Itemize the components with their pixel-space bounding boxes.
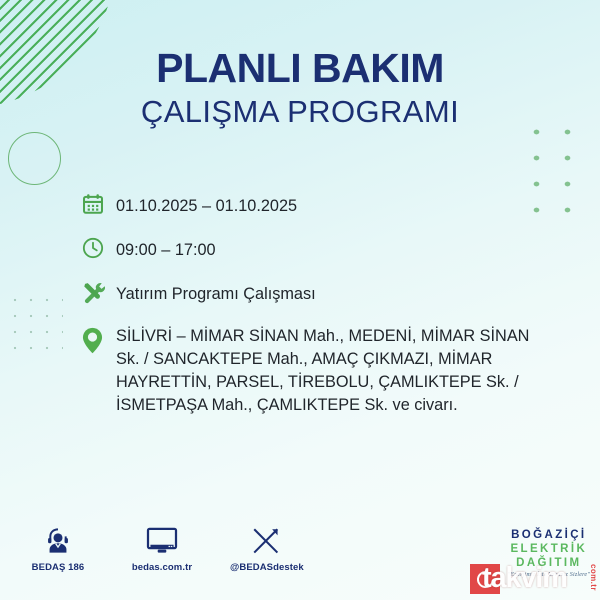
location-pin-icon <box>82 324 116 357</box>
time-range-text: 09:00 – 17:00 <box>116 236 216 262</box>
poster-header: PLANLI BAKIM ÇALIŞMA PROGRAMI <box>0 48 600 128</box>
poster-footer: BEDAŞ 186 bedas.com.tr <box>0 524 600 600</box>
maintenance-details: 01.10.2025 – 01.10.2025 09:00 – 17:00 Ya… <box>82 192 552 418</box>
takvim-watermark: takvim com.tr <box>470 560 598 598</box>
headset-support-icon <box>22 524 94 558</box>
date-range-text: 01.10.2025 – 01.10.2025 <box>116 192 297 218</box>
circle-outline-decoration <box>8 132 61 185</box>
contact-x[interactable]: @BEDASdestek <box>230 524 302 573</box>
tools-icon <box>82 280 116 311</box>
contact-phone[interactable]: BEDAŞ 186 <box>22 524 94 573</box>
detail-row-work-type: Yatırım Programı Çalışması <box>82 280 552 311</box>
x-twitter-icon <box>230 524 302 558</box>
brand-line-1: BOĞAZİÇİ <box>508 528 590 542</box>
monitor-icon <box>126 524 198 558</box>
contact-x-label: @BEDASdestek <box>230 562 302 573</box>
page-subtitle: ÇALIŞMA PROGRAMI <box>0 96 600 129</box>
planned-maintenance-poster: PLANLI BAKIM ÇALIŞMA PROGRAMI 01 <box>0 0 600 600</box>
calendar-icon <box>82 192 116 223</box>
location-text: SİLİVRİ – MİMAR SİNAN Mah., MEDENİ, MİMA… <box>116 324 552 418</box>
clock-icon <box>82 236 116 267</box>
watermark-tld: com.tr <box>589 564 598 591</box>
detail-row-date: 01.10.2025 – 01.10.2025 <box>82 192 552 223</box>
brand-line-2: ELEKTRİK <box>508 542 590 556</box>
contact-channels: BEDAŞ 186 bedas.com.tr <box>22 524 302 573</box>
contact-phone-label: BEDAŞ 186 <box>22 562 94 573</box>
work-type-text: Yatırım Programı Çalışması <box>116 280 316 306</box>
contact-website[interactable]: bedas.com.tr <box>126 524 198 573</box>
detail-row-time: 09:00 – 17:00 <box>82 236 552 267</box>
detail-row-location: SİLİVRİ – MİMAR SİNAN Mah., MEDENİ, MİMA… <box>82 324 552 418</box>
dot-grid-left-decoration <box>7 292 63 358</box>
watermark-word: takvim <box>482 562 567 595</box>
page-title: PLANLI BAKIM <box>0 48 600 90</box>
contact-website-label: bedas.com.tr <box>126 562 198 573</box>
